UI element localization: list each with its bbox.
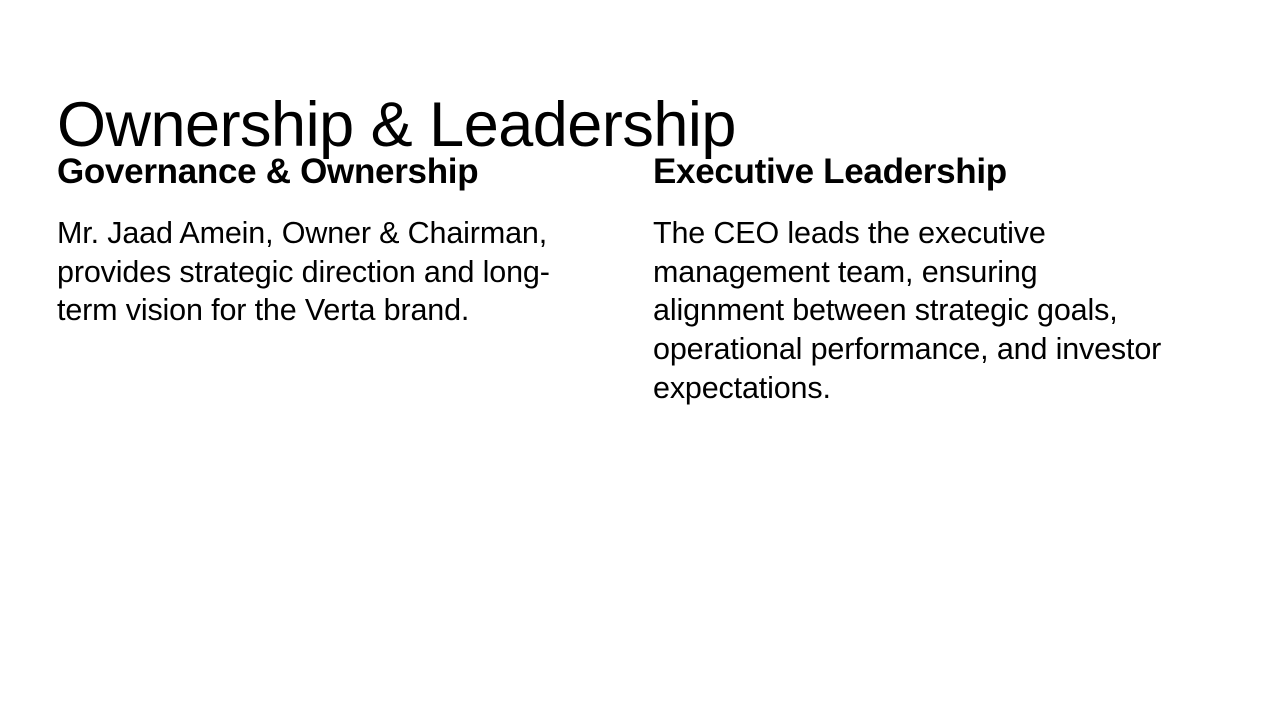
column-heading-governance-ownership: Governance & Ownership — [57, 152, 562, 191]
column-governance-ownership: Governance & Ownership Mr. Jaad Amein, O… — [57, 152, 562, 330]
slide: Ownership & Leadership Governance & Owne… — [0, 0, 1280, 720]
column-body-executive-leadership: The CEO leads the executive management t… — [653, 214, 1163, 407]
page-title: Ownership & Leadership — [57, 94, 1217, 157]
column-executive-leadership: Executive Leadership The CEO leads the e… — [653, 152, 1163, 407]
content-columns: Governance & Ownership Mr. Jaad Amein, O… — [57, 152, 1223, 407]
column-heading-executive-leadership: Executive Leadership — [653, 152, 1163, 191]
column-body-governance-ownership: Mr. Jaad Amein, Owner & Chairman, provid… — [57, 214, 562, 330]
